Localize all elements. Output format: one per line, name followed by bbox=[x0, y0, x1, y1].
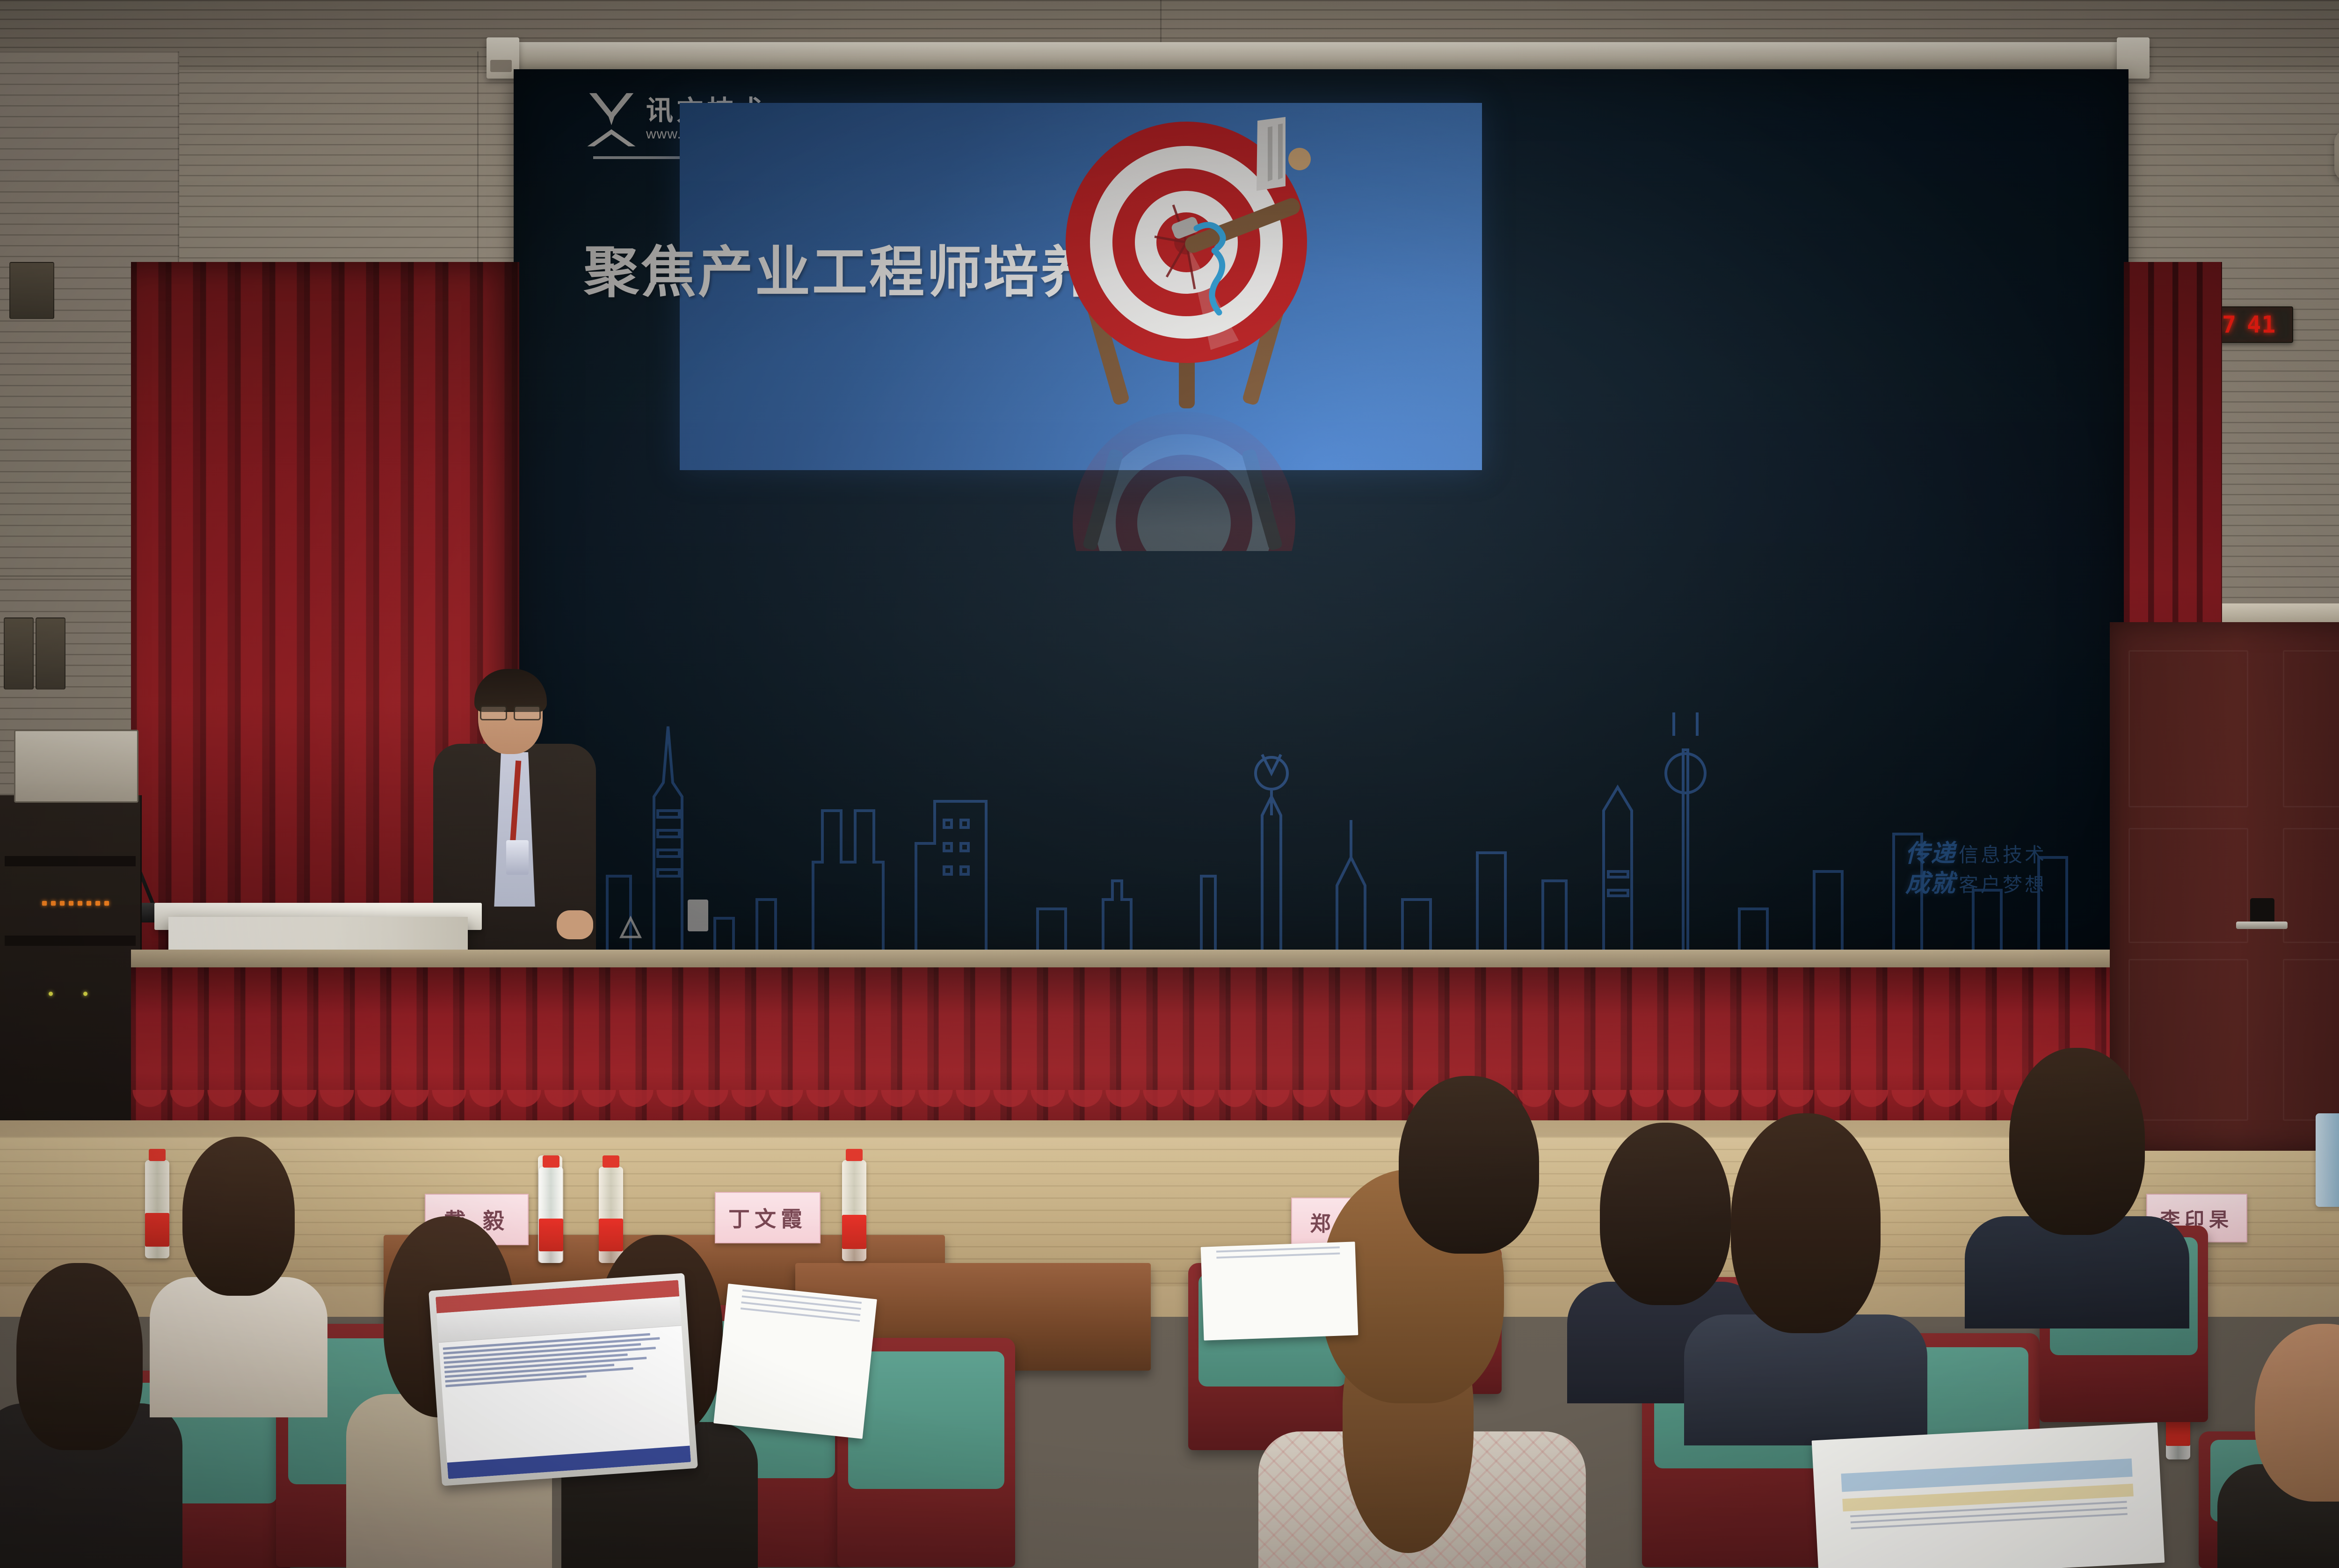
ceiling-sensor-icon bbox=[2334, 130, 2339, 181]
audience-member bbox=[1698, 1113, 1913, 1441]
presenter-hand bbox=[557, 910, 593, 939]
slogan-line1-bold: 传递 bbox=[1905, 840, 1956, 868]
slogan-line1-rest: 信息技术 bbox=[1959, 843, 2047, 866]
xunfang-x-logo-icon bbox=[586, 92, 637, 147]
laptop-screen bbox=[436, 1280, 691, 1479]
lens-right bbox=[514, 705, 541, 720]
led-icon bbox=[87, 901, 91, 906]
audience-member bbox=[1983, 1048, 2171, 1319]
led-icon bbox=[104, 901, 109, 906]
attendee-laptop[interactable] bbox=[429, 1273, 698, 1486]
led-icon bbox=[83, 992, 87, 996]
wall-fixture bbox=[4, 617, 34, 690]
target-reflection bbox=[1063, 397, 1307, 551]
door-panel bbox=[2283, 650, 2339, 807]
bottle-cap bbox=[603, 1155, 619, 1168]
door-panel bbox=[2128, 650, 2248, 807]
led-icon bbox=[69, 901, 73, 906]
nameplate-text: 丁文霞 bbox=[728, 1202, 807, 1233]
handout-document bbox=[713, 1284, 877, 1439]
led-icon bbox=[78, 901, 82, 906]
audience-head bbox=[1731, 1113, 1881, 1333]
av-shelf bbox=[5, 936, 136, 946]
seat-cushion bbox=[848, 1351, 1004, 1489]
audience-head bbox=[1399, 1076, 1539, 1254]
doc-text-line bbox=[741, 1307, 860, 1322]
doc-text-line bbox=[1216, 1246, 1340, 1252]
wall-fixture bbox=[9, 262, 54, 319]
lecture-hall-photo: 15 37 41 讯方技术 www.xunfang.com 聚焦产业工程师培养 bbox=[0, 0, 2339, 1568]
bottle-cap bbox=[846, 1149, 863, 1161]
av-shelf bbox=[5, 856, 136, 866]
led-icon bbox=[49, 992, 53, 996]
led-icon bbox=[42, 901, 47, 906]
audience-head bbox=[16, 1263, 143, 1450]
doc-text-line bbox=[1216, 1252, 1340, 1258]
audience-member bbox=[1385, 1076, 1553, 1272]
led-icon bbox=[51, 901, 56, 906]
audience-member bbox=[154, 1137, 323, 1399]
clock-seconds: 41 bbox=[2247, 311, 2276, 338]
slogan-line-1: 传递信息技术 bbox=[1905, 839, 2047, 869]
bottle-label bbox=[842, 1215, 866, 1249]
door-panel bbox=[2283, 828, 2339, 943]
door-panel bbox=[2128, 828, 2248, 943]
audience-member bbox=[2227, 1324, 2339, 1568]
projection-screen: 讯方技术 www.xunfang.com 聚焦产业工程师培养 bbox=[514, 69, 2128, 956]
lens-left bbox=[480, 705, 507, 720]
handout-document bbox=[1201, 1241, 1358, 1340]
led-icon bbox=[95, 901, 100, 906]
av-equipment-rack bbox=[0, 795, 142, 1141]
audience-head bbox=[182, 1137, 295, 1296]
door-handle[interactable] bbox=[2236, 922, 2288, 929]
water-bottle bbox=[2316, 1113, 2339, 1207]
water-bottle bbox=[842, 1160, 866, 1261]
presenter-badge bbox=[506, 840, 529, 875]
screen-ceiling-mount bbox=[490, 60, 512, 72]
audience-torso bbox=[150, 1277, 327, 1417]
led-icon bbox=[60, 901, 65, 906]
archery-target-icon bbox=[1056, 88, 1318, 415]
handout-document bbox=[1812, 1423, 2165, 1568]
audience-head bbox=[2009, 1048, 2145, 1235]
slide-title: 聚焦产业工程师培养 bbox=[584, 227, 1097, 307]
brand-slogan: 传递信息技术 成就客户梦想 bbox=[1905, 839, 2047, 899]
audience-torso bbox=[1684, 1314, 1927, 1445]
slogan-line-2: 成就客户梦想 bbox=[1905, 869, 2047, 899]
projector-screen-case bbox=[496, 42, 2138, 71]
wall-fixture bbox=[36, 617, 65, 690]
av-led-row bbox=[42, 901, 109, 906]
slogan-line2-rest: 客户梦想 bbox=[1959, 873, 2047, 896]
slogan-line2-bold: 成就 bbox=[1905, 870, 1956, 898]
eyeglasses-icon bbox=[480, 705, 541, 718]
city-skyline-icon bbox=[514, 656, 2128, 956]
door-panel bbox=[2283, 959, 2339, 1121]
av-monitor bbox=[14, 730, 138, 803]
bottle-cap bbox=[543, 1155, 559, 1168]
